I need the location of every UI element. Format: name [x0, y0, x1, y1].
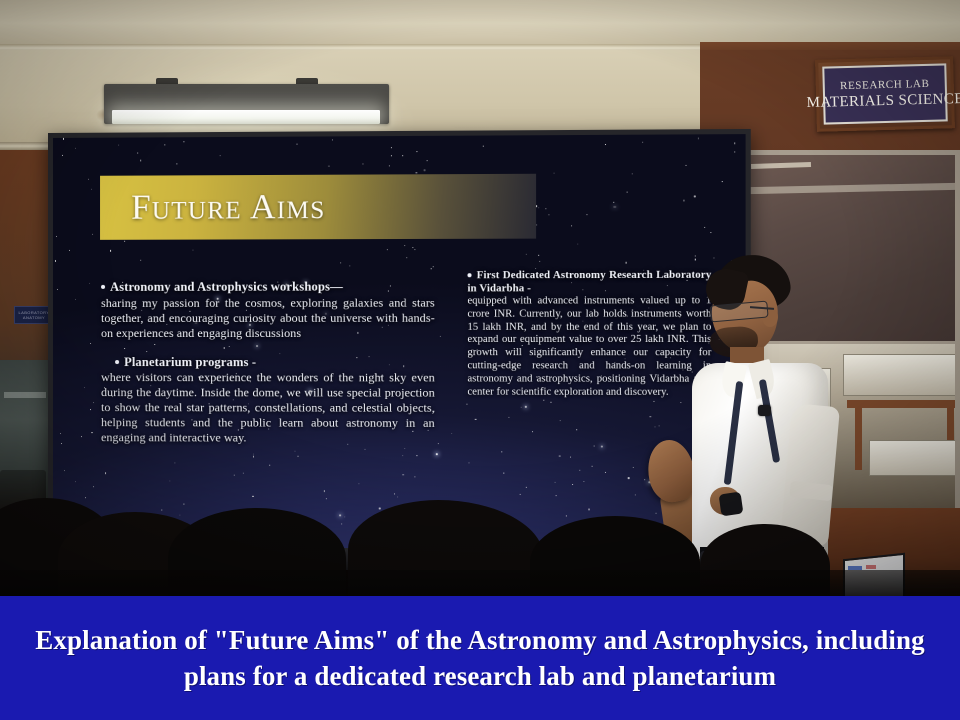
lab-sign-line2: MATERIALS SCIENCE — [806, 90, 960, 111]
bullet-dot-icon — [115, 360, 119, 364]
slide-bullet-heading: Planetarium programs - — [101, 355, 435, 371]
slide-bullet-body: where visitors can experience the wonder… — [101, 370, 435, 446]
lab-sign-plate: RESEARCH LAB MATERIALS SCIENCE — [822, 63, 947, 124]
slide-bullet-body: equipped with advanced instruments value… — [467, 295, 711, 399]
slide-bullet-heading-text: First Dedicated Astronomy Research Labor… — [467, 270, 711, 295]
window-glare — [751, 162, 811, 169]
presentation-screen: Future Aims Astronomy and Astrophysics w… — [48, 129, 751, 557]
slide-bullet-block: Planetarium programs - where visitors ca… — [101, 355, 435, 447]
audience-shoulders — [0, 570, 960, 596]
lab-instrument-c — [869, 440, 960, 476]
slide: Future Aims Astronomy and Astrophysics w… — [53, 134, 746, 552]
slide-bullet-heading: First Dedicated Astronomy Research Labor… — [467, 269, 711, 296]
lab-sign-line1: RESEARCH LAB — [840, 77, 930, 91]
slide-bullet-heading: Astronomy and Astrophysics workshops— — [101, 279, 435, 295]
slide-bullet-block: First Dedicated Astronomy Research Labor… — [467, 269, 711, 400]
laptop-screen-content-b — [866, 565, 876, 569]
slide-bullet-heading-text: Planetarium programs - — [124, 355, 256, 369]
bullet-dot-icon — [101, 285, 105, 289]
slide-bullet-heading-text: Astronomy and Astrophysics workshops— — [110, 279, 343, 293]
fluorescent-tube-icon — [112, 110, 380, 124]
screenshot-root: LABORATORY ANATOMY RESEARCH LAB MATERIAL… — [0, 0, 960, 720]
caption-text: Explanation of "Future Aims" of the Astr… — [15, 622, 945, 694]
left-glass-glare — [4, 392, 46, 398]
slide-right-column: First Dedicated Astronomy Research Labor… — [467, 269, 711, 414]
slide-bullet-block: Astronomy and Astrophysics workshops— sh… — [101, 279, 435, 340]
caption-bar: Explanation of "Future Aims" of the Astr… — [0, 596, 960, 720]
lapel-microphone-icon — [758, 405, 771, 416]
photograph: LABORATORY ANATOMY RESEARCH LAB MATERIAL… — [0, 0, 960, 596]
bullet-dot-icon — [467, 273, 471, 277]
slide-left-column: Astronomy and Astrophysics workshops— sh… — [101, 279, 435, 460]
left-plaque-line2: ANATOMY — [23, 315, 45, 320]
slide-title: Future Aims — [131, 187, 325, 228]
research-lab-sign: RESEARCH LAB MATERIALS SCIENCE — [815, 56, 955, 132]
wristwatch-icon — [719, 492, 744, 517]
slide-bullet-body: sharing my passion for the cosmos, explo… — [101, 295, 435, 341]
